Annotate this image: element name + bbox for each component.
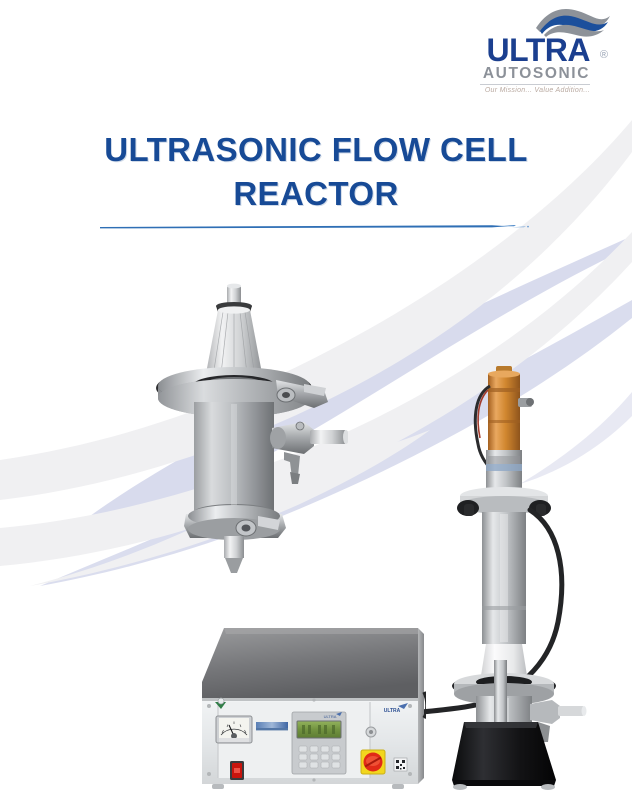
- horn-top-stud: [227, 286, 241, 304]
- ultrasonic-generator-unit: ULTRA ULTRA: [196, 622, 426, 802]
- product-brochure-page: ULTRA ® AUTOSONIC Our Mission... Value A…: [0, 0, 632, 811]
- svg-text:ULTRA: ULTRA: [384, 708, 401, 714]
- outlet-barb: [225, 558, 243, 573]
- power-cable: [522, 510, 562, 682]
- analog-panel-meter: [216, 716, 252, 743]
- brand-tagline: Our Mission... Value Addition...: [485, 87, 590, 94]
- page-title: ULTRASONIC FLOW CELL REACTOR: [0, 128, 632, 215]
- brand-subname: AUTOSONIC: [483, 66, 590, 82]
- qr-code-label: [394, 758, 407, 771]
- ultrasonic-flow-cell-reactor-unit: [128, 276, 348, 576]
- generator-feet: [212, 784, 404, 789]
- logo-rule-divider: [480, 84, 590, 85]
- support-post: [494, 660, 507, 722]
- converter-blue-band: [486, 464, 522, 471]
- module-brand-label: ULTRA: [324, 714, 337, 719]
- title-divider: [100, 222, 530, 232]
- stand-base: [452, 660, 592, 790]
- generator-right-side: [418, 628, 424, 784]
- emergency-stop-knob: [361, 750, 385, 774]
- generator-top-cover: [202, 628, 418, 698]
- brand-logo: ULTRA ® AUTOSONIC Our Mission... Value A…: [464, 4, 614, 104]
- side-inlet-port: [270, 422, 348, 484]
- page-title-line1: ULTRASONIC FLOW CELL: [104, 131, 528, 168]
- upper-stand-clamp: [457, 487, 551, 516]
- brand-name: ULTRA: [486, 34, 590, 66]
- transducer-body: [488, 374, 520, 450]
- lower-tri-clamp: [184, 505, 286, 540]
- inlet-tube: [310, 430, 346, 444]
- base-plate: [452, 722, 556, 780]
- blue-label-strip: [256, 722, 288, 730]
- page-title-line2: REACTOR: [233, 175, 398, 212]
- transducer-connector: [518, 398, 534, 407]
- registered-trademark-icon: ®: [600, 50, 608, 61]
- red-rocker-switch: [230, 761, 244, 780]
- rear-cable: [424, 692, 426, 718]
- outlet-stem: [224, 536, 244, 558]
- control-module: ULTRA: [292, 712, 346, 774]
